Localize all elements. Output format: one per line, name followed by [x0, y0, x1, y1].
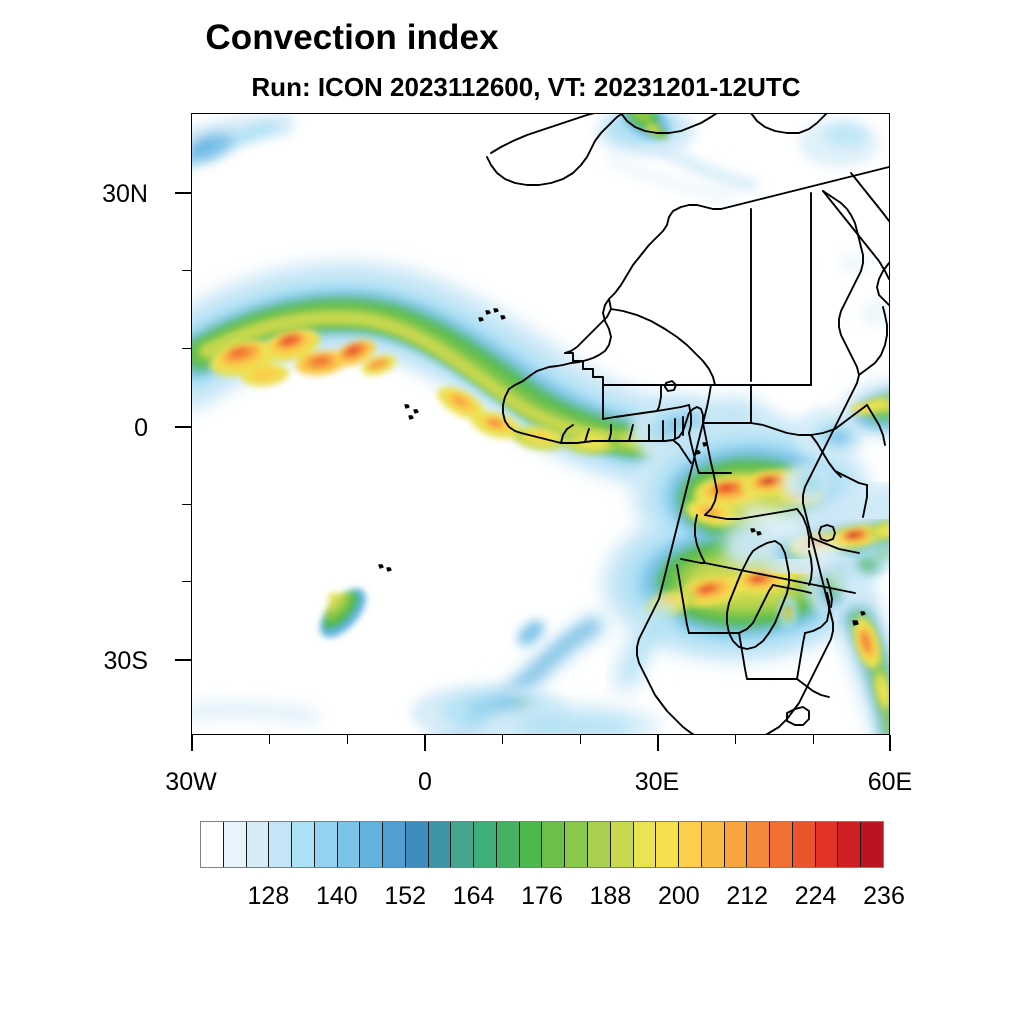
colorbar-cell: [338, 822, 361, 867]
colorbar-cell: [451, 822, 474, 867]
xtick-minor-40e: [735, 735, 736, 744]
colorbar-cell: [793, 822, 816, 867]
xtick-label-60e: 60E: [830, 768, 950, 797]
colorbar-cell: [770, 822, 793, 867]
colorbar-cell: [656, 822, 679, 867]
ytick-minor-10s: [182, 504, 191, 505]
colorbar-cell: [360, 822, 383, 867]
chart-subtitle: Run: ICON 2023112600, VT: 20231201-12UTC: [0, 72, 1024, 103]
ytick-label-30n: 30N: [28, 180, 148, 209]
colorbar-cell: [520, 822, 543, 867]
xtick-minor-10e: [502, 735, 503, 744]
xtick-major-60e: [889, 735, 891, 751]
xtick-major-0: [424, 735, 426, 751]
xtick-minor-10w: [347, 735, 348, 744]
page-title: Convection index: [0, 18, 1024, 58]
colorbar-cell: [269, 822, 292, 867]
xtick-label-30e: 30E: [597, 768, 717, 797]
xtick-minor-20w: [269, 735, 270, 744]
xtick-label-0: 0: [365, 768, 485, 797]
colorbar-cell: [861, 822, 883, 867]
colorbar-cell: [702, 822, 725, 867]
xtick-minor-50e: [813, 735, 814, 744]
colorbar-cell: [315, 822, 338, 867]
ytick-label-30s: 30S: [28, 647, 148, 676]
convection-index-chart: Convection index Run: ICON 2023112600, V…: [0, 0, 1024, 1024]
colorbar-cell: [474, 822, 497, 867]
colorbar-cell: [292, 822, 315, 867]
xtick-label-30w: 30W: [131, 768, 251, 797]
colorbar-cell: [406, 822, 429, 867]
chart-subtitle-text: Run: ICON 2023112600, VT: 20231201-12UTC: [251, 72, 800, 103]
xtick-minor-20e: [580, 735, 581, 744]
colorbar-cell: [497, 822, 520, 867]
colorbar-cell: [201, 822, 224, 867]
colorbar-cell: [816, 822, 839, 867]
colorbar-tick-label: 236: [839, 882, 929, 911]
page-title-text: Convection index: [205, 18, 498, 58]
colorbar-cell: [542, 822, 565, 867]
colorbar-cell: [838, 822, 861, 867]
map-svg: [191, 113, 890, 735]
colorbar-cell: [725, 822, 748, 867]
colorbar-cell: [588, 822, 611, 867]
colorbar-cell: [611, 822, 634, 867]
ytick-major-30s: [175, 659, 191, 661]
ytick-major-0: [175, 426, 191, 428]
ytick-minor-20n: [182, 270, 191, 271]
ytick-minor-10n: [182, 348, 191, 349]
ytick-minor-20s: [182, 581, 191, 582]
colorbar-cell: [247, 822, 270, 867]
xtick-major-30w: [191, 735, 193, 751]
ytick-label-0: 0: [28, 414, 148, 443]
colorbar-cell: [224, 822, 247, 867]
colorbar-cell: [383, 822, 406, 867]
colorbar[interactable]: [200, 821, 884, 868]
ytick-major-30n: [175, 192, 191, 194]
colorbar-cell: [429, 822, 452, 867]
map-plot-area[interactable]: [191, 113, 890, 735]
colorbar-cell: [634, 822, 657, 867]
xtick-major-30e: [657, 735, 659, 751]
colorbar-cell: [565, 822, 588, 867]
colorbar-cell: [747, 822, 770, 867]
colorbar-cell: [679, 822, 702, 867]
